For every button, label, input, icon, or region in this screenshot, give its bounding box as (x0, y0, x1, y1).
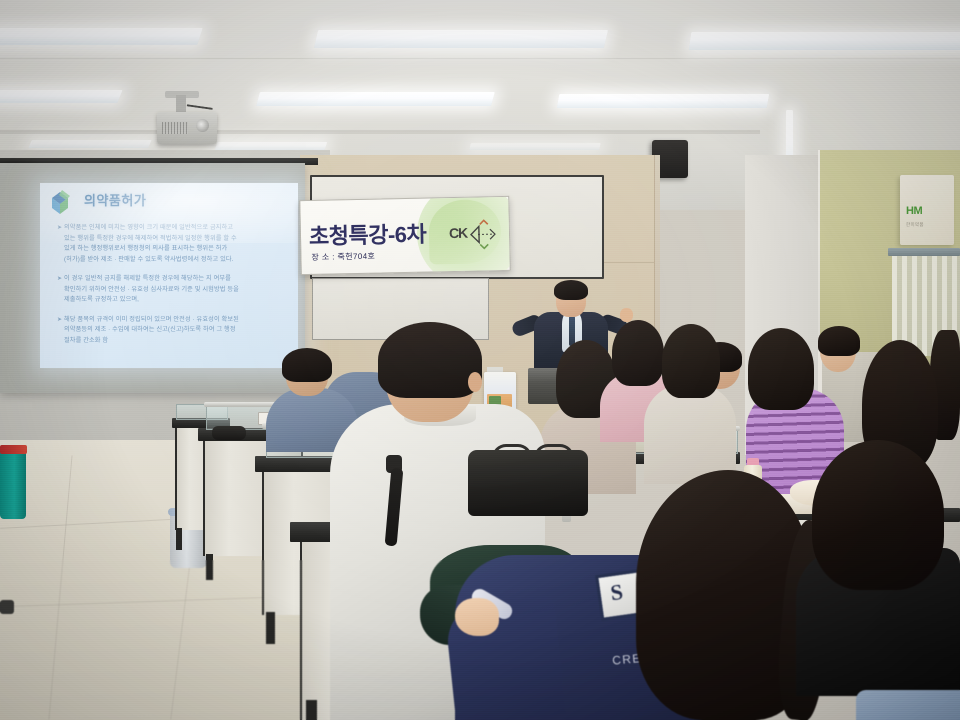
ceiling-light-panel (557, 94, 769, 108)
event-banner: 초청특강-6차 장 소 : 죽헌704호 CK (299, 196, 511, 275)
floor-object (0, 600, 14, 614)
projector-glow (40, 183, 298, 243)
ceiling-light-panel (0, 28, 203, 45)
bullet-marker: ➤ (57, 315, 62, 326)
banner-place-text: 장 소 : 죽헌704호 (311, 251, 375, 263)
bench-leg (266, 612, 275, 644)
slide-bullet-line: 있게 하는 행정행위로서 행정청의 의사를 표시하는 행위은 허가 (64, 244, 288, 255)
attendee-blue-shirt-hair (282, 348, 332, 382)
ck-program-logo: CK (449, 219, 498, 250)
ceiling-light-panel (256, 92, 495, 106)
slide-bullet-line: 이 경우 일반적 금지를 해제할 특정한 경우에 해당하는 지 여부를 (64, 274, 288, 285)
ceiling-light-panel (689, 32, 960, 50)
patch-letter: S (609, 579, 625, 606)
attendee-pink-hair (612, 320, 664, 386)
bench-leg (306, 700, 317, 720)
hm-sub-text: 한미약품 (906, 222, 924, 228)
banner-title: 초청특강-6차 (309, 217, 427, 251)
wall-shelf (888, 248, 960, 256)
hm-logo-text: HM (906, 205, 922, 217)
slide-bullet-line: 해당 품목의 규격이 이미 정립되어 있으며 안전성 · 유효성이 확보된 (64, 315, 288, 326)
attendee-cream-hair (662, 324, 720, 398)
ceiling-light-panel (0, 90, 123, 103)
ceiling-light-panel (28, 140, 152, 148)
projector-vent (162, 122, 188, 134)
bench-leg (176, 528, 182, 550)
bench-leg (206, 554, 213, 580)
attendee-jeans (856, 690, 960, 720)
attendee-purple-shirt-hair (748, 328, 814, 410)
slide-bullet-line: 의약품등의 제조 · 수입에 대하여는 신고(신고)하도록 하여 그 행정 (64, 325, 288, 336)
attendee-grey-shirt-hair (378, 322, 482, 398)
ceiling-seam (0, 58, 960, 59)
slide-bullet-line: 확인하기 위하여 안전성 · 유효성 심사자료와 기준 및 시험방법 등을 (64, 285, 288, 296)
presenter-tie (569, 316, 575, 346)
waste-bin-lid (0, 445, 27, 454)
slide-bullet-line: 제출하도록 규정하고 있으며, (64, 295, 288, 306)
ceiling-soffit (0, 130, 760, 134)
teal-waste-bin (0, 447, 26, 519)
small-black-pouch (212, 426, 246, 440)
black-duffel-bag (468, 450, 588, 516)
presenter-hair (554, 280, 588, 300)
attendee-hair (818, 326, 860, 356)
attendee-black-top-hair (812, 440, 944, 590)
projector-lens (196, 119, 209, 132)
attendee-ear (468, 372, 482, 392)
ceiling-light-panel (215, 142, 328, 150)
ceiling-light-panel (314, 30, 608, 48)
slide-bullet-line: (허가)를 받아 제조 · 판매할 수 있도록 약사법령에서 정하고 있다. (64, 255, 288, 266)
slide-bullet-line: 절차를 간소화 함 (64, 336, 288, 347)
ceiling-light-panel (469, 143, 600, 150)
attendee-hand (455, 598, 499, 636)
attendee-cream-body (644, 384, 736, 484)
projector-mount-pole (176, 95, 186, 113)
lecture-hall-photo: HM 한미약품 의약품허가 ➤ 의약품은 인체에 미치는 영향이 크기 때문에 … (0, 0, 960, 720)
bullet-marker: ➤ (57, 274, 62, 285)
